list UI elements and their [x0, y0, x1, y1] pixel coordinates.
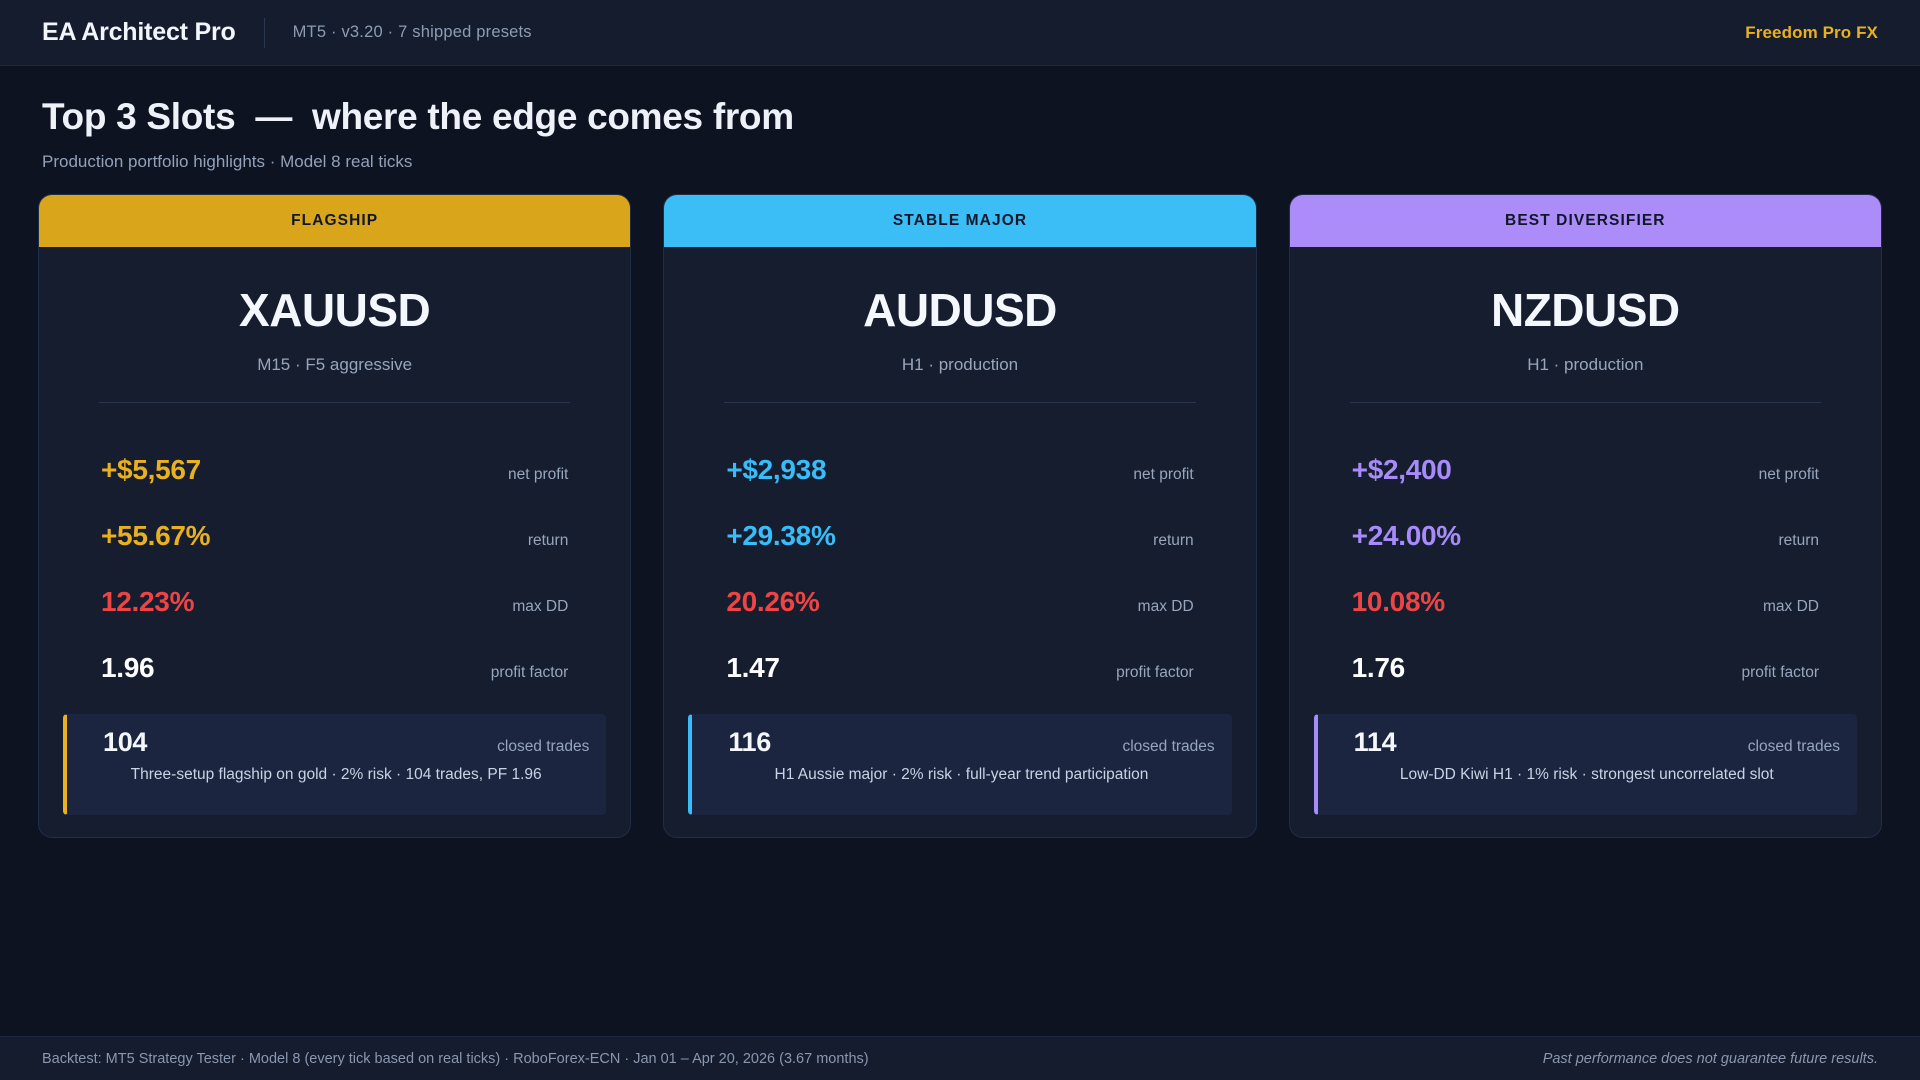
- slot-symbol: AUDUSD: [704, 283, 1215, 337]
- metric-row: +55.67%return: [79, 503, 590, 569]
- metric-value: +24.00%: [1352, 520, 1461, 552]
- closed-trades-label: closed trades: [1748, 738, 1840, 756]
- slot-timeframe: H1 · production: [704, 355, 1215, 375]
- closed-trades-count: 116: [708, 727, 771, 758]
- closed-trades-count: 104: [83, 727, 147, 758]
- hero-section: Top 3 Slots — where the edge comes from …: [0, 66, 1920, 172]
- metric-label: net profit: [1133, 466, 1193, 484]
- metric-row: +$5,567net profit: [79, 437, 590, 503]
- metric-value: 20.26%: [726, 586, 819, 618]
- app-title: EA Architect Pro: [42, 18, 236, 47]
- slot-note-text: Low-DD Kiwi H1 · 1% risk · strongest unc…: [1334, 766, 1840, 784]
- metric-list: +$2,400net profit+24.00%return10.08%max …: [1330, 437, 1841, 701]
- metric-value: +55.67%: [101, 520, 210, 552]
- metric-row: 1.47profit factor: [704, 635, 1215, 701]
- slot-divider: [99, 402, 570, 403]
- metric-row: 1.76profit factor: [1330, 635, 1841, 701]
- metric-label: max DD: [1763, 598, 1819, 616]
- slot-card[interactable]: STABLE MAJORAUDUSDH1 · production+$2,938…: [663, 194, 1256, 838]
- closed-trades-label: closed trades: [1122, 738, 1214, 756]
- slot-card-row: FLAGSHIPXAUUSDM15 · F5 aggressive+$5,567…: [0, 172, 1920, 838]
- metric-value: 1.96: [101, 652, 154, 684]
- dashboard-root: EA Architect Pro MT5 · v3.20 · 7 shipped…: [0, 0, 1920, 1080]
- metric-label: net profit: [1759, 466, 1819, 484]
- metric-value: 1.76: [1352, 652, 1405, 684]
- metric-list: +$2,938net profit+29.38%return20.26%max …: [704, 437, 1215, 701]
- header-meta: MT5 · v3.20 · 7 shipped presets: [293, 23, 532, 42]
- slot-symbol: NZDUSD: [1330, 283, 1841, 337]
- slot-timeframe: M15 · F5 aggressive: [79, 355, 590, 375]
- footer-disclaimer: Past performance does not guarantee futu…: [1543, 1051, 1878, 1067]
- slot-divider: [1350, 402, 1821, 403]
- metric-value: 1.47: [726, 652, 779, 684]
- top-bar: EA Architect Pro MT5 · v3.20 · 7 shipped…: [0, 0, 1920, 66]
- slot-badge: STABLE MAJOR: [664, 195, 1255, 247]
- metric-row: 12.23%max DD: [79, 569, 590, 635]
- slot-note-text: Three-setup flagship on gold · 2% risk ·…: [83, 766, 589, 784]
- closed-trades-row: 116closed trades: [708, 727, 1214, 758]
- metric-row: +$2,400net profit: [1330, 437, 1841, 503]
- slot-badge: BEST DIVERSIFIER: [1290, 195, 1881, 247]
- page-subtitle: Production portfolio highlights · Model …: [42, 152, 1878, 172]
- metric-label: max DD: [512, 598, 568, 616]
- metric-label: return: [528, 532, 569, 550]
- metric-row: 20.26%max DD: [704, 569, 1215, 635]
- metric-row: 1.96profit factor: [79, 635, 590, 701]
- slot-card[interactable]: FLAGSHIPXAUUSDM15 · F5 aggressive+$5,567…: [38, 194, 631, 838]
- metric-value: 12.23%: [101, 586, 194, 618]
- metric-value: 10.08%: [1352, 586, 1445, 618]
- slot-badge: FLAGSHIP: [39, 195, 630, 247]
- closed-trades-row: 104closed trades: [83, 727, 589, 758]
- footer-bar: Backtest: MT5 Strategy Tester · Model 8 …: [0, 1036, 1920, 1080]
- footer-backtest-info: Backtest: MT5 Strategy Tester · Model 8 …: [42, 1051, 869, 1067]
- closed-trades-note: 104closed tradesThree-setup flagship on …: [63, 714, 606, 815]
- closed-trades-row: 114closed trades: [1334, 727, 1840, 758]
- closed-trades-count: 114: [1334, 727, 1397, 758]
- brand-label: Freedom Pro FX: [1745, 23, 1878, 43]
- metric-label: return: [1153, 532, 1194, 550]
- metric-value: +$5,567: [101, 454, 201, 486]
- metric-value: +$2,938: [726, 454, 826, 486]
- metric-row: +24.00%return: [1330, 503, 1841, 569]
- slot-divider: [724, 402, 1195, 403]
- metric-label: profit factor: [1741, 664, 1819, 682]
- metric-row: +29.38%return: [704, 503, 1215, 569]
- metric-list: +$5,567net profit+55.67%return12.23%max …: [79, 437, 590, 701]
- closed-trades-note: 116closed tradesH1 Aussie major · 2% ris…: [688, 714, 1231, 815]
- metric-label: max DD: [1138, 598, 1194, 616]
- page-title: Top 3 Slots — where the edge comes from: [42, 96, 1878, 138]
- closed-trades-note: 114closed tradesLow-DD Kiwi H1 · 1% risk…: [1314, 714, 1857, 815]
- metric-label: profit factor: [1116, 664, 1194, 682]
- metric-value: +29.38%: [726, 520, 835, 552]
- metric-label: profit factor: [491, 664, 569, 682]
- slot-note-text: H1 Aussie major · 2% risk · full-year tr…: [708, 766, 1214, 784]
- slot-card[interactable]: BEST DIVERSIFIERNZDUSDH1 · production+$2…: [1289, 194, 1882, 838]
- metric-row: 10.08%max DD: [1330, 569, 1841, 635]
- slot-timeframe: H1 · production: [1330, 355, 1841, 375]
- metric-label: return: [1778, 532, 1819, 550]
- slot-card-body: AUDUSDH1 · production+$2,938net profit+2…: [664, 247, 1255, 701]
- metric-row: +$2,938net profit: [704, 437, 1215, 503]
- header-divider: [264, 18, 265, 48]
- closed-trades-label: closed trades: [497, 738, 589, 756]
- metric-label: net profit: [508, 466, 568, 484]
- slot-symbol: XAUUSD: [79, 283, 590, 337]
- slot-card-body: XAUUSDM15 · F5 aggressive+$5,567net prof…: [39, 247, 630, 701]
- slot-card-body: NZDUSDH1 · production+$2,400net profit+2…: [1290, 247, 1881, 701]
- metric-value: +$2,400: [1352, 454, 1452, 486]
